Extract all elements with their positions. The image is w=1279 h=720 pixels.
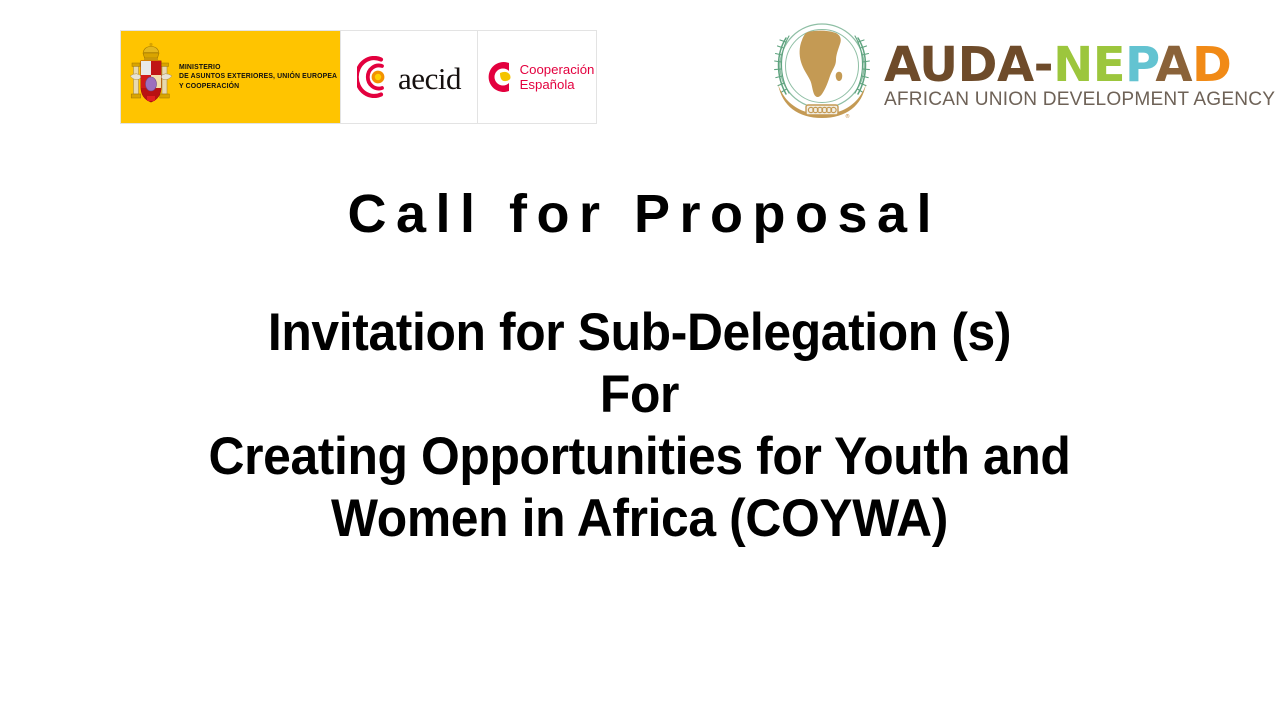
auda-nepad-letter-5: N xyxy=(1053,37,1093,93)
slide-canvas: MINISTERIO DE ASUNTOS EXTERIORES, UNIÓN … xyxy=(0,0,1279,720)
auda-nepad-letter-9: D xyxy=(1192,37,1231,93)
ministerio-line-2: DE ASUNTOS EXTERIORES, UNIÓN EUROPEA xyxy=(179,72,337,81)
aecid-panel: aecid xyxy=(340,31,477,123)
auda-nepad-wordmark: AUDA-NEPAD xyxy=(884,42,1279,88)
cooperacion-espanola-panel: Cooperación Española xyxy=(477,31,596,123)
ministerio-line-1: MINISTERIO xyxy=(179,63,337,72)
auda-nepad-text: AUDA-NEPAD AFRICAN UNION DEVELOPMENT AGE… xyxy=(884,28,1279,110)
auda-nepad-letter-8: A xyxy=(1155,37,1192,93)
cooperacion-espanola-text: Cooperación Española xyxy=(520,62,595,93)
auda-nepad-letter-0: A xyxy=(884,37,919,93)
ministerio-text: MINISTERIO DE ASUNTOS EXTERIORES, UNIÓN … xyxy=(179,63,337,91)
aecid-wordmark: aecid xyxy=(398,63,461,94)
main-title: Invitation for Sub-Delegation (s) For Cr… xyxy=(0,302,1279,550)
auda-nepad-letter-2: D xyxy=(958,37,997,93)
auda-nepad-subtitle: AFRICAN UNION DEVELOPMENT AGENCY xyxy=(884,88,1275,110)
auda-nepad-logo: ® AUDA-NEPAD AFRICAN UNION DEVELOPMENT A… xyxy=(766,14,1226,124)
auda-nepad-letter-7: P xyxy=(1125,37,1155,93)
african-union-emblem-icon: ® xyxy=(766,14,878,124)
main-title-line-2: For xyxy=(38,364,1240,426)
auda-nepad-letter-1: U xyxy=(919,37,957,93)
auda-nepad-letter-6: E xyxy=(1093,37,1125,93)
spanish-cooperation-logo-strip: MINISTERIO DE ASUNTOS EXTERIORES, UNIÓN … xyxy=(120,30,597,124)
ministerio-line-3: Y COOPERACIÓN xyxy=(179,82,337,91)
main-title-line-3: Creating Opportunities for Youth and xyxy=(38,426,1240,488)
main-title-line-1: Invitation for Sub-Delegation (s) xyxy=(38,302,1240,364)
spain-coat-of-arms-icon xyxy=(128,40,174,114)
main-title-line-4: Women in Africa (COYWA) xyxy=(38,488,1240,550)
coop-line-1: Cooperación xyxy=(520,62,595,78)
ministerio-panel: MINISTERIO DE ASUNTOS EXTERIORES, UNIÓN … xyxy=(121,31,340,123)
auda-nepad-letter-3: A xyxy=(997,37,1034,93)
call-for-proposal-heading: Call for Proposal xyxy=(0,186,1279,242)
logo-band: MINISTERIO DE ASUNTOS EXTERIORES, UNIÓN … xyxy=(0,0,1279,140)
auda-nepad-letter-4: - xyxy=(1034,37,1053,93)
svg-text:®: ® xyxy=(845,113,850,120)
cooperacion-espanola-c-icon xyxy=(480,56,514,98)
aecid-spiral-icon xyxy=(357,56,393,98)
coop-line-2: Española xyxy=(520,77,595,93)
